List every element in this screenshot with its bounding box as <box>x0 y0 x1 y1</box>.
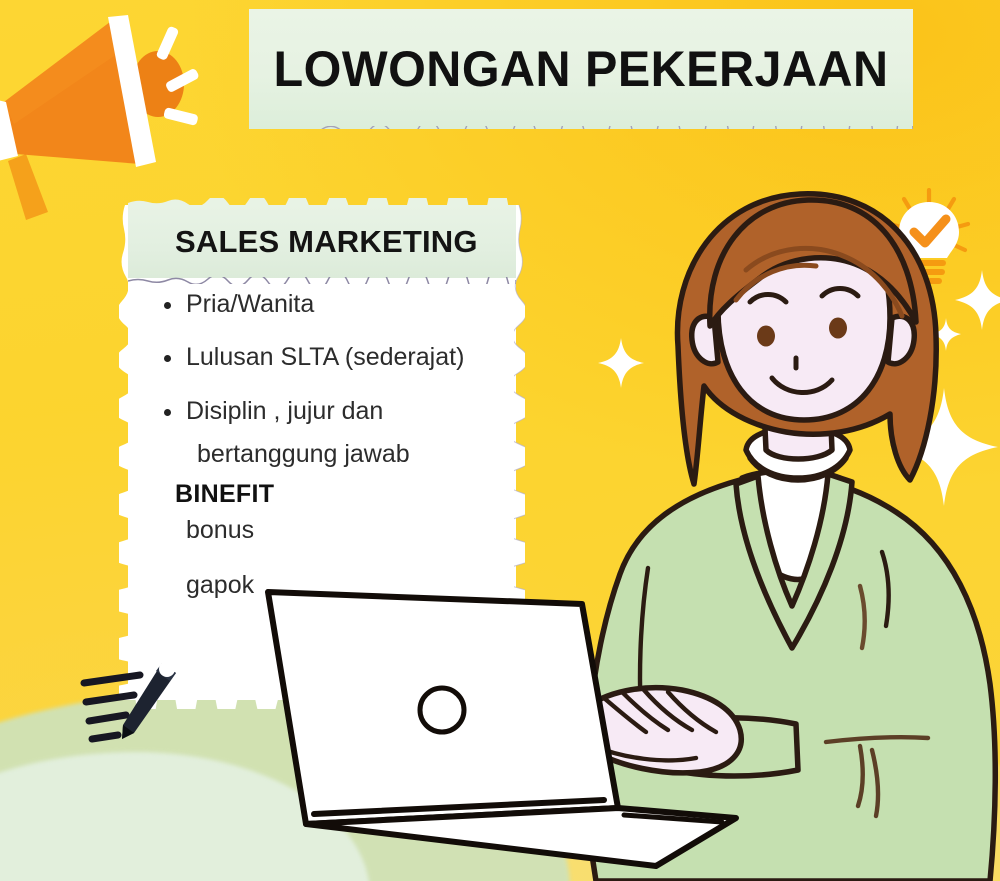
bullet-icon <box>164 302 171 309</box>
benefit-item: bonus <box>186 516 516 545</box>
card-body: Pria/Wanita Lulusan SLTA (sederajat) Dis… <box>128 285 516 600</box>
bullet-icon <box>164 409 171 416</box>
requirement-text: Pria/Wanita <box>186 290 314 318</box>
requirement-item: Disiplin , jujur dan bertanggung jawab <box>164 398 516 468</box>
card-header-divider <box>128 277 516 284</box>
requirement-item: Pria/Wanita <box>164 291 516 317</box>
requirements-list: Pria/Wanita Lulusan SLTA (sederajat) Dis… <box>128 291 516 467</box>
banner-torn-top-edge <box>249 2 913 13</box>
pencil-note-icon <box>78 655 188 750</box>
requirement-item: Lulusan SLTA (sederajat) <box>164 344 516 370</box>
benefit-heading: BINEFIT <box>175 480 516 509</box>
requirement-text: Disiplin , jujur dan <box>186 397 383 425</box>
title-banner: LOWONGAN PEKERJAAN <box>249 9 913 129</box>
page-title: LOWONGAN PEKERJAAN <box>273 44 888 94</box>
megaphone-icon <box>0 6 236 221</box>
banner-torn-bottom-edge <box>249 126 913 137</box>
job-title: SALES MARKETING <box>175 224 478 260</box>
laptop-icon <box>252 570 752 881</box>
job-vacancy-poster: LOWONGAN PEKERJAAN <box>0 0 1000 881</box>
requirement-text-continuation: bertanggung jawab <box>186 441 516 467</box>
card-header-band: SALES MARKETING <box>128 205 516 278</box>
requirement-text: Lulusan SLTA (sederajat) <box>186 343 464 371</box>
bullet-icon <box>164 355 171 362</box>
